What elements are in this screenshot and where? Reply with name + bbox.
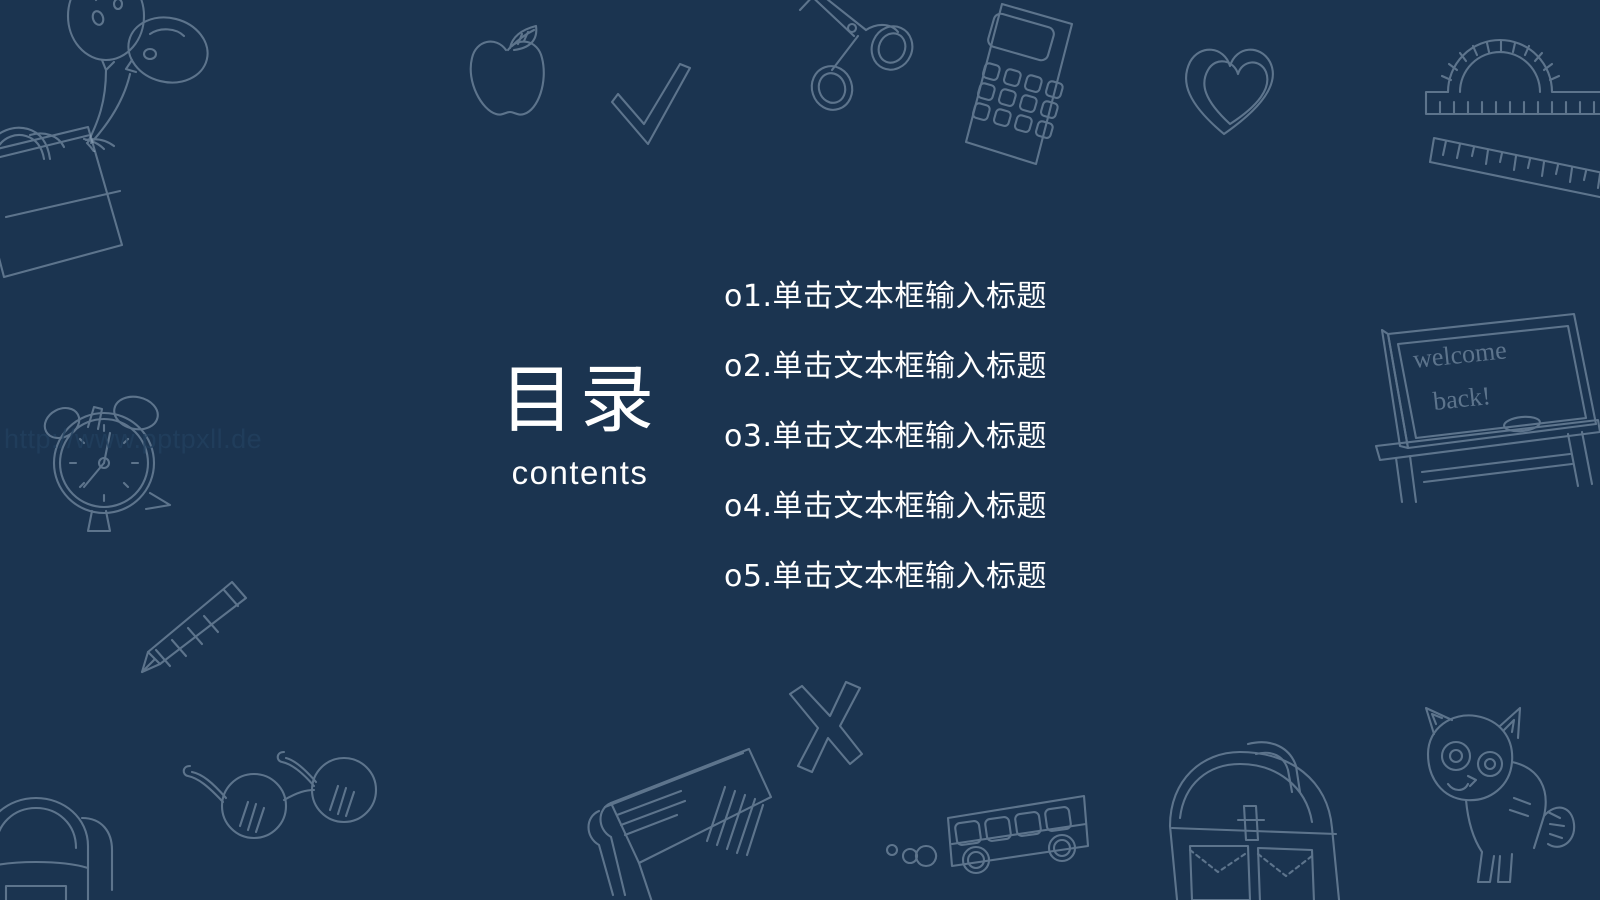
blackboard-line2: back! xyxy=(1432,381,1492,416)
cross-x-icon xyxy=(784,680,874,780)
blackboard-icon: welcome back! xyxy=(1362,306,1600,506)
blackboard-line1: welcome xyxy=(1412,335,1508,374)
section-title-block: 目录 contents xyxy=(430,360,730,492)
scissors-icon xyxy=(770,0,920,134)
ruler-icon xyxy=(1428,118,1600,208)
calculator-icon xyxy=(950,2,1080,172)
satchel-icon xyxy=(1160,730,1350,900)
toc-item-2[interactable]: o2.单击文本框输入标题 xyxy=(724,332,1344,402)
watermark-url: http://www.pptpxll.de xyxy=(4,424,262,455)
presentation-slide: welcome back! xyxy=(0,0,1600,900)
briefcase-icon xyxy=(0,105,150,285)
checkmark-icon xyxy=(608,62,698,152)
pencil-icon xyxy=(120,580,250,680)
toc-item-1[interactable]: o1.单击文本框输入标题 xyxy=(724,262,1344,332)
protractor-icon xyxy=(1418,22,1600,152)
cat-icon xyxy=(1408,706,1578,886)
page-subtitle: contents xyxy=(430,454,730,492)
apple-icon xyxy=(462,22,552,122)
balloons-icon xyxy=(58,0,218,152)
double-heart-icon xyxy=(1178,38,1288,143)
page-title: 目录 xyxy=(430,360,730,440)
open-book-icon xyxy=(565,745,775,900)
toc-item-3[interactable]: o3.单击文本框输入标题 xyxy=(724,402,1344,472)
alarm-clock-icon xyxy=(40,385,175,535)
toc-item-5[interactable]: o5.单击文本框输入标题 xyxy=(724,542,1344,612)
table-of-contents-list: o1.单击文本框输入标题 o2.单击文本框输入标题 o3.单击文本框输入标题 o… xyxy=(724,262,1344,612)
school-bus-icon xyxy=(860,768,1090,878)
eyeglasses-icon xyxy=(182,728,392,848)
toc-item-4[interactable]: o4.单击文本框输入标题 xyxy=(724,472,1344,542)
backpack-left-icon xyxy=(0,790,140,900)
